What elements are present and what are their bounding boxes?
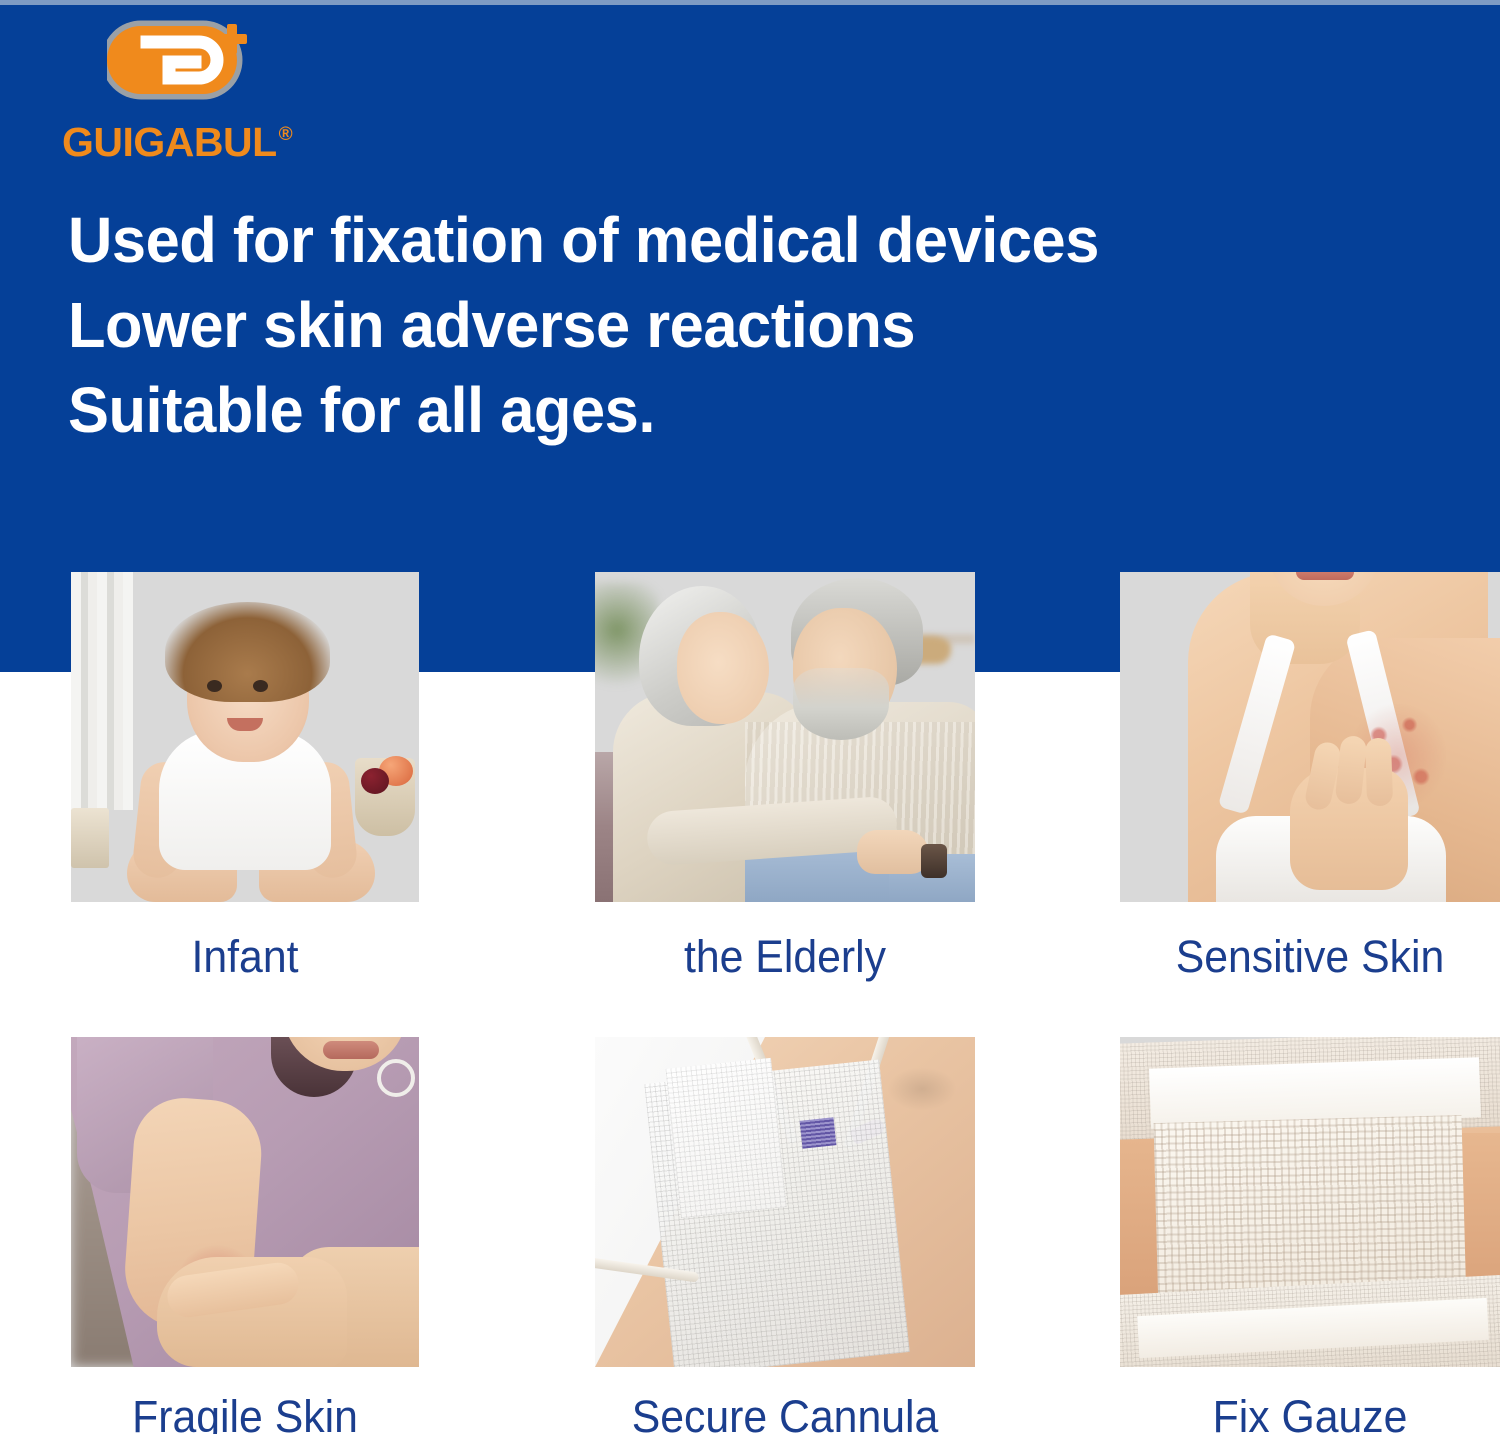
use-case-card-elderly: the Elderly [595,572,975,985]
woman-face [677,612,769,724]
guigabul-g-plus-logo-icon [107,20,257,106]
hoop-earring [377,1059,415,1097]
cannula-label-marking [800,1117,837,1148]
brand-logo-block: GUIGABUL® [62,16,362,156]
wristwatch-decor [921,844,947,878]
top-edge-line [0,0,1500,5]
hands-clasped [857,830,929,874]
use-case-card-fix-gauze: Fix Gauze [1120,1037,1500,1434]
brand-wordmark: GUIGABUL® [62,122,292,163]
infant-hair [165,602,330,702]
photo-fix-gauze [1120,1037,1500,1367]
caption-elderly: the Elderly [605,929,966,985]
plum-decor [361,768,389,794]
photo-elderly-couple [595,572,975,902]
infant-eye-left [207,680,222,692]
headline-line-3: Suitable for all ages. [68,368,1268,453]
headline-block: Used for fixation of medical devices Low… [68,198,1268,453]
photo-infant [71,572,419,902]
caption-fragile-skin: Fragile Skin [80,1389,411,1434]
use-case-card-infant: Infant [71,572,419,985]
photo-fragile-skin [71,1037,419,1367]
curtain-decor [71,572,133,810]
headline-line-2: Lower skin adverse reactions [68,283,1268,368]
infant-eye-right [253,680,268,692]
woman-lips-open [323,1041,379,1059]
man-beard [793,668,889,740]
basket-decor [71,808,109,868]
brand-wordmark-text: GUIGABUL [62,119,277,165]
use-case-card-fragile-skin: Fragile Skin [71,1037,419,1434]
caption-infant: Infant [80,929,411,985]
photo-secure-cannula [595,1037,975,1367]
knuckle-shading [887,1067,957,1111]
photo-sensitive-skin [1120,572,1500,902]
skin-visible-left [1120,1123,1158,1307]
headline-line-1: Used for fixation of medical devices [68,198,1268,283]
caption-sensitive-skin: Sensitive Skin [1130,929,1491,985]
caption-fix-gauze: Fix Gauze [1130,1389,1491,1434]
use-case-card-sensitive-skin: Sensitive Skin [1120,572,1500,985]
use-case-card-secure-cannula: Secure Cannula [595,1037,975,1434]
woman-lips [1296,572,1354,580]
finger-3 [1365,738,1393,807]
caption-secure-cannula: Secure Cannula [605,1389,966,1434]
registered-trademark-mark: ® [279,124,293,145]
product-feature-banner: GUIGABUL® Used for fixation of medical d… [0,0,1500,1434]
nonwoven-tape-overlap [665,1058,786,1218]
